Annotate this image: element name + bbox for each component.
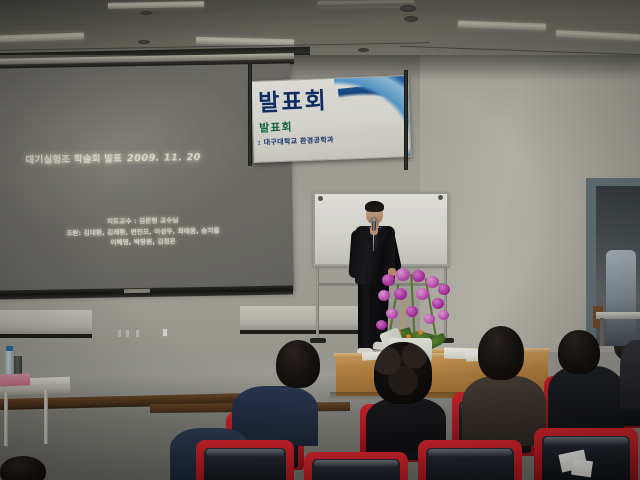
hair — [558, 330, 600, 374]
hair — [276, 340, 320, 388]
wall-cable-stub — [126, 330, 129, 337]
slide-title-date: 2009. 11. 20 — [127, 152, 201, 164]
ceiling-vent — [358, 48, 369, 52]
audience-member-head — [558, 330, 600, 374]
person-in-doorway — [606, 250, 636, 346]
ceiling-vent — [140, 11, 152, 15]
banner-swoosh — [330, 75, 412, 163]
orchid-bloom — [394, 288, 407, 300]
chair-highlight — [206, 449, 284, 458]
orchid-bloom — [378, 290, 390, 301]
ceiling-vent — [138, 40, 150, 44]
chair-icon[interactable] — [304, 452, 408, 480]
whiteboard-magnet — [438, 195, 443, 200]
orchid-bloom — [386, 308, 398, 319]
hair-curly — [374, 342, 432, 404]
orchid-bloom — [416, 288, 429, 300]
ceiling-vent — [404, 16, 418, 22]
audience-member-head — [478, 326, 524, 380]
corridor-rail-post — [600, 318, 604, 346]
audience-member-torso — [620, 340, 640, 410]
paper-icon — [571, 459, 593, 478]
hair — [478, 326, 524, 380]
side-table-leg — [4, 392, 8, 446]
accent-flower — [418, 330, 423, 335]
banner-headline-large: 발표회 — [258, 89, 328, 117]
banner-headline-mid: 발표회 — [259, 118, 293, 135]
slide-credits: 지도교수 : 김문현 교수님 조원: 김대환, 김래환, 변진오, 이성우, 최… — [0, 213, 289, 250]
audience-member-head — [276, 340, 320, 388]
whiteboard-magnet — [318, 196, 323, 201]
paper-icon — [0, 373, 30, 387]
ceiling-vent — [400, 5, 416, 12]
orchid-bloom — [426, 276, 439, 288]
orchid-bloom — [406, 306, 418, 317]
orchid-bloom — [412, 270, 425, 282]
whiteboard-leg — [316, 262, 319, 340]
orchid-bloom — [438, 284, 450, 295]
audience-member-head — [374, 342, 432, 404]
wall-cable-stub — [118, 330, 121, 337]
chair-highlight — [544, 437, 627, 446]
screen-weight-bar — [124, 289, 150, 293]
orchid-bloom — [424, 314, 435, 324]
chair-icon[interactable] — [196, 440, 294, 480]
stage-wall-panel — [0, 310, 92, 338]
wall-cable-stub — [136, 330, 139, 337]
event-banner: 발표회 발표회 : 대구대학교 환경공학과 — [250, 75, 411, 163]
audience-member-torso — [548, 366, 624, 430]
bottle-cap — [6, 346, 13, 351]
orchid-bloom — [376, 320, 387, 330]
wall-outlet — [162, 328, 168, 337]
audience-member-head — [0, 456, 46, 480]
chair-highlight — [428, 449, 511, 458]
orchid-bloom — [396, 268, 410, 281]
orchid-bloom — [432, 298, 444, 309]
presenter-hair — [365, 201, 384, 212]
presentation-photo: 대기실험조 학술회 발표2009. 11. 20 지도교수 : 김문현 교수님 … — [0, 0, 640, 480]
microphone-head — [371, 217, 377, 222]
slide-title-text: 대기실험조 학술회 발표 — [26, 153, 123, 166]
side-table-leg — [44, 390, 48, 444]
banner-surface: 발표회 발표회 : 대구대학교 환경공학과 — [250, 75, 411, 163]
banner-pole-left — [248, 62, 252, 166]
orchid-bloom — [438, 310, 449, 320]
hair — [0, 456, 46, 480]
orchid-bloom — [382, 274, 395, 286]
chair-icon[interactable] — [418, 440, 522, 480]
banner-pole-right — [404, 70, 408, 170]
chair-highlight — [314, 460, 397, 468]
